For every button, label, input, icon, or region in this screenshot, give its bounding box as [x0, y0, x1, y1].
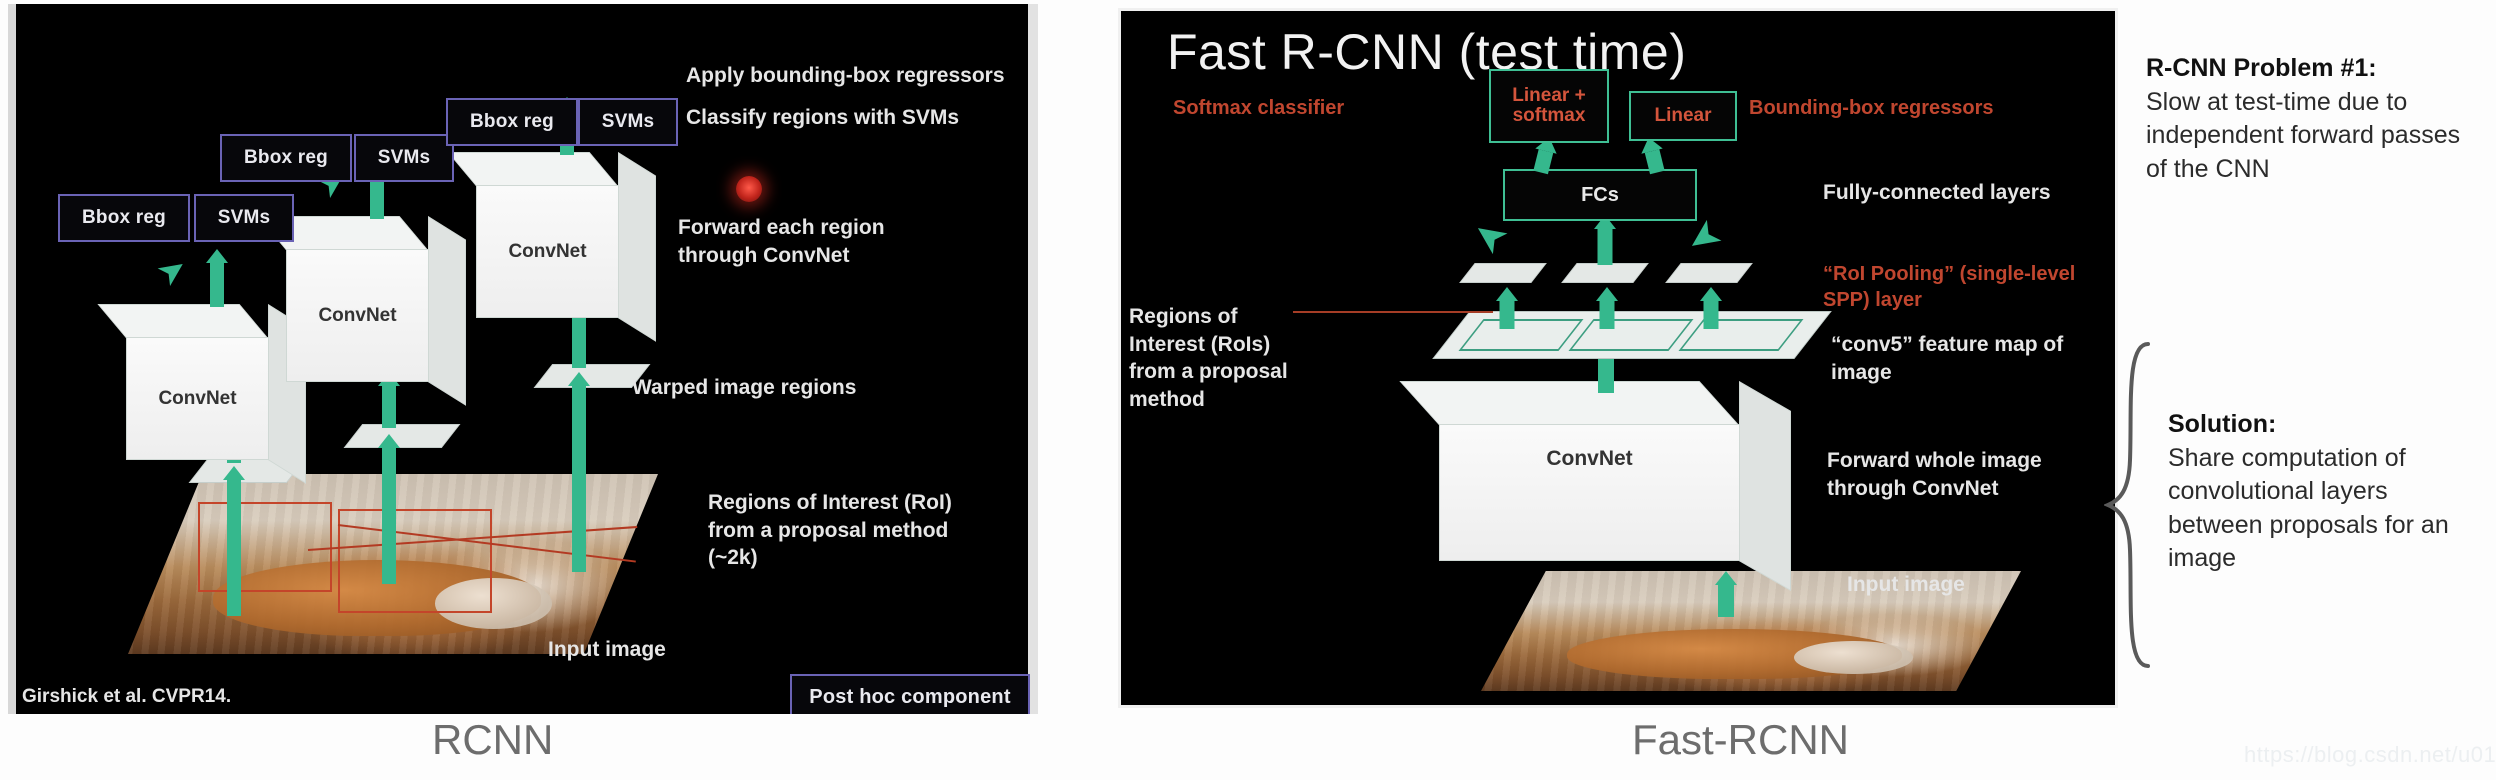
photo-subject-dog [1794, 641, 1913, 675]
svms-box-1-label: SVMs [218, 207, 271, 229]
panel-left-edge [8, 4, 16, 714]
arrow-image-to-warp-3 [566, 372, 592, 572]
arrow-pool-to-fcs-center [1591, 215, 1619, 265]
solution-brace [2104, 340, 2160, 675]
watermark-url: https://blog.csdn.net/u014301278 [2244, 742, 2496, 768]
roi-rect-2 [338, 509, 492, 613]
annotation-warped-regions: Warped image regions [632, 374, 856, 402]
svms-box-3[interactable]: SVMs [578, 98, 678, 146]
bbox-reg-box-1-label: Bbox reg [82, 207, 166, 229]
roi-rect-1 [198, 502, 332, 592]
fast-convnet-cube: ConvNet [1439, 381, 1819, 581]
annotation-roi: Regions of Interest (RoI) from a proposa… [708, 489, 952, 572]
annotation-conv5: “conv5” feature map of image [1831, 331, 2115, 386]
annotation-forward-whole-image: Forward whole image through ConvNet [1827, 447, 2115, 502]
arrow-featuremap-to-pool-3 [1697, 287, 1725, 329]
bbox-reg-box-2[interactable]: Bbox reg [220, 134, 352, 182]
post-hoc-component-box[interactable]: Post hoc component [790, 674, 1030, 714]
problem-body: Slow at test-time due to independent for… [2146, 88, 2460, 183]
caption-rcnn: RCNN [432, 716, 553, 764]
linear-box[interactable]: Linear [1629, 91, 1737, 141]
rcnn-diagram-panel: ConvNet ConvNet ConvNet ➤ ➤ ➤ [8, 4, 1038, 714]
svms-box-2[interactable]: SVMs [354, 134, 454, 182]
slide-canvas: ConvNet ConvNet ConvNet ➤ ➤ ➤ [0, 0, 2496, 780]
rois-pointer-line [1293, 311, 1493, 313]
post-hoc-component-label: Post hoc component [809, 686, 1010, 709]
svms-box-2-label: SVMs [378, 147, 431, 169]
fast-rcnn-diagram-panel: Fast R-CNN (test time) ConvNet [1118, 8, 2118, 708]
solution-title: Solution: [2168, 410, 2276, 438]
annotation-forward-each-region: Forward each region through ConvNet [678, 214, 885, 269]
roi-pool-plate-1 [1459, 263, 1547, 283]
annotation-rois: Regions of Interest (RoIs) from a propos… [1129, 303, 1288, 414]
linear-softmax-box[interactable]: Linear + softmax [1489, 69, 1609, 143]
caption-fast-rcnn: Fast-RCNN [1632, 716, 1849, 764]
bbox-reg-box-3-label: Bbox reg [470, 111, 554, 133]
convnet-cube-1-label: ConvNet [158, 388, 236, 410]
linear-softmax-label: Linear + softmax [1512, 86, 1585, 126]
fcs-box[interactable]: FCs [1503, 169, 1697, 221]
roi-pool-plate-3 [1665, 263, 1753, 283]
annotation-roi-pooling: “RoI Pooling” (single-level SPP) layer [1823, 261, 2115, 313]
annotation-bbox-regressors: Bounding-box regressors [1749, 95, 1993, 121]
arrow-featuremap-to-pool-1 [1493, 287, 1521, 329]
convnet-cube-3-label: ConvNet [508, 241, 586, 263]
convnet-cube-2-label: ConvNet [318, 305, 396, 327]
problem-title: R-CNN Problem #1: [2146, 54, 2377, 82]
bbox-reg-box-2-label: Bbox reg [244, 147, 328, 169]
fcs-box-label: FCs [1581, 185, 1619, 206]
bbox-reg-box-3[interactable]: Bbox reg [446, 98, 578, 146]
annotation-input-image: Input image [548, 636, 666, 664]
svms-box-3-label: SVMs [602, 111, 655, 133]
annotation-classify-svms: Classify regions with SVMs [686, 104, 959, 132]
red-dot-marker [736, 176, 762, 202]
warped-plate-2 [344, 424, 461, 448]
arrow-convnet1-to-svms [204, 249, 230, 307]
linear-label: Linear [1654, 106, 1711, 126]
convnet-cube-2: ConvNet [286, 216, 466, 416]
problem-note: R-CNN Problem #1: Slow at test-time due … [2146, 52, 2476, 186]
bbox-reg-box-1[interactable]: Bbox reg [58, 194, 190, 242]
citation-text: Girshick et al. CVPR14. [22, 684, 231, 709]
fast-convnet-label: ConvNet [1546, 447, 1632, 471]
arrow-image-to-warp-2 [376, 434, 402, 584]
solution-note: Solution: Share computation of convoluti… [2168, 408, 2488, 576]
solution-body: Share computation of convolutional layer… [2168, 444, 2449, 573]
arrow-featuremap-to-pool-2 [1593, 287, 1621, 329]
convnet-cube-1: ConvNet [126, 304, 306, 494]
annotation-fast-input-image: Input image [1847, 571, 1965, 599]
annotation-softmax-classifier: Softmax classifier [1173, 95, 1344, 121]
panel-right-edge [1028, 4, 1038, 714]
annotation-apply-regressors: Apply bounding-box regressors [686, 62, 1005, 90]
svms-box-1[interactable]: SVMs [194, 194, 294, 242]
convnet-cube-3: ConvNet [476, 152, 656, 352]
roi-pool-plate-2 [1561, 263, 1649, 283]
arrow-convnet1-to-bboxreg: ➤ [151, 249, 194, 293]
annotation-fully-connected: Fully-connected layers [1823, 179, 2051, 207]
